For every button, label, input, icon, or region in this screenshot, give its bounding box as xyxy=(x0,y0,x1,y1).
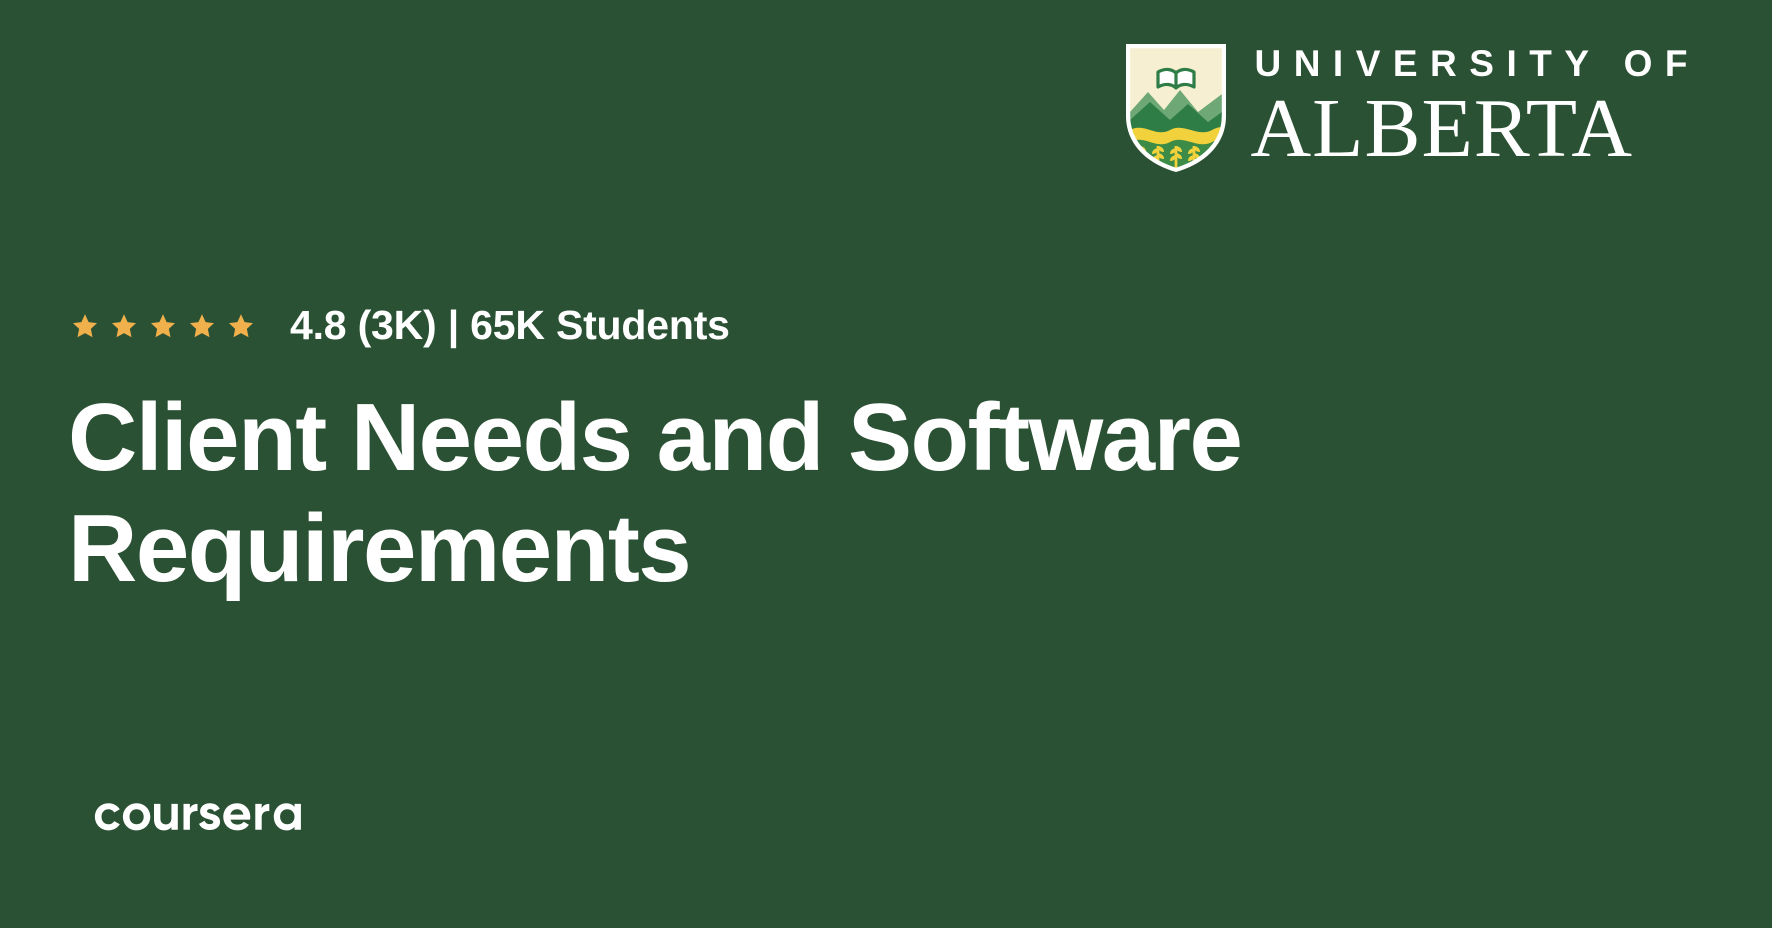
university-logo: UNIVERSITY OF ALBERTA xyxy=(1124,42,1700,172)
open-book-icon xyxy=(1158,69,1194,88)
coursera-logo xyxy=(88,790,316,838)
rating-text: 4.8 (3K) | 65K Students xyxy=(290,305,730,346)
star-icon xyxy=(187,311,217,341)
university-wordmark-line1: UNIVERSITY OF xyxy=(1254,45,1700,82)
star-icon xyxy=(148,311,178,341)
coursera-wordmark-icon xyxy=(88,790,316,838)
rating-row: 4.8 (3K) | 65K Students xyxy=(70,305,730,346)
university-shield-icon xyxy=(1124,42,1228,172)
university-wordmark-line2: ALBERTA xyxy=(1250,89,1633,170)
star-icon xyxy=(70,311,100,341)
star-rating xyxy=(70,311,256,341)
university-wordmark: UNIVERSITY OF ALBERTA xyxy=(1250,45,1700,170)
course-promo-card: UNIVERSITY OF ALBERTA 4.8 (3K) | 65K Stu… xyxy=(0,0,1772,928)
star-icon xyxy=(109,311,139,341)
course-title: Client Needs and Software Requirements xyxy=(68,382,1398,605)
star-icon xyxy=(226,311,256,341)
